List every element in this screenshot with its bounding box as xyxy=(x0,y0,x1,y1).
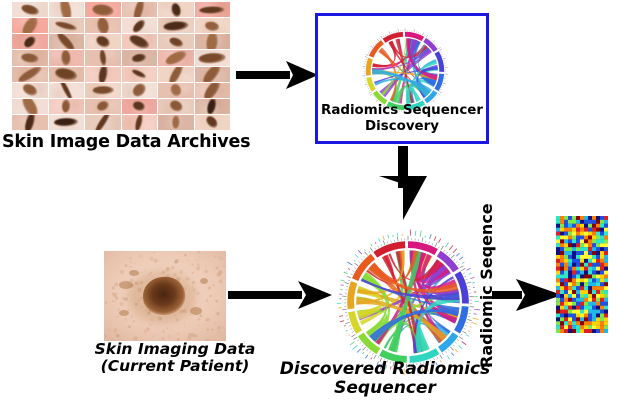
heatmap-cell xyxy=(588,314,592,318)
heatmap-cell xyxy=(556,243,560,247)
heatmap-cell xyxy=(576,286,580,290)
heatmap-cell xyxy=(568,251,572,255)
heatmap-cell xyxy=(568,224,572,228)
heatmap-cell xyxy=(580,275,584,279)
heatmap-cell xyxy=(568,314,572,318)
heatmap-cell xyxy=(560,255,564,259)
heatmap-cell xyxy=(560,247,564,251)
heatmap-cell xyxy=(560,298,564,302)
heatmap-cell xyxy=(576,239,580,243)
heatmap-cell xyxy=(596,275,600,279)
heatmap-cell xyxy=(600,220,604,224)
heatmap-cell xyxy=(592,247,596,251)
heatmap-cell xyxy=(588,306,592,310)
heatmap-cell xyxy=(576,321,580,325)
heatmap-cell xyxy=(596,329,600,333)
heatmap-cell xyxy=(564,306,568,310)
heatmap-cell xyxy=(556,255,560,259)
heatmap-cell xyxy=(600,314,604,318)
heatmap-cell xyxy=(556,302,560,306)
skin-image-thumbnail xyxy=(195,18,231,33)
heatmap-cell xyxy=(580,220,584,224)
heatmap-cell xyxy=(580,302,584,306)
heatmap-cell xyxy=(600,243,604,247)
heatmap-cell xyxy=(556,236,560,240)
heatmap-cell xyxy=(596,236,600,240)
heatmap-cell xyxy=(572,278,576,282)
heatmap-cell xyxy=(604,232,608,236)
heatmap-cell xyxy=(580,259,584,263)
heatmap-cell xyxy=(572,321,576,325)
heatmap-cell xyxy=(592,220,596,224)
heatmap-cell xyxy=(576,216,580,220)
heatmap-cell xyxy=(580,247,584,251)
arrow-sequencer-to-output xyxy=(492,277,562,313)
heatmap-cell xyxy=(600,302,604,306)
heatmap-cell xyxy=(568,259,572,263)
heatmap-cell xyxy=(576,220,580,224)
heatmap-cell xyxy=(560,317,564,321)
heatmap-cell xyxy=(592,271,596,275)
heatmap-cell xyxy=(572,329,576,333)
heatmap-cell xyxy=(604,317,608,321)
heatmap-cell xyxy=(600,329,604,333)
heatmap-cell xyxy=(584,267,588,271)
skin-image-thumbnail xyxy=(85,34,121,49)
heatmap-cell xyxy=(592,275,596,279)
heatmap-cell xyxy=(572,251,576,255)
heatmap-cell xyxy=(588,255,592,259)
skin-image-thumbnail xyxy=(49,2,85,17)
heatmap-cell xyxy=(596,216,600,220)
heatmap-cell xyxy=(560,275,564,279)
heatmap-cell xyxy=(592,290,596,294)
heatmap-cell xyxy=(564,278,568,282)
heatmap-cell xyxy=(560,325,564,329)
heatmap-cell xyxy=(580,239,584,243)
heatmap-cell xyxy=(568,294,572,298)
heatmap-cell xyxy=(596,247,600,251)
radiomics-sequencer-discovery-box[interactable]: Radiomics Sequencer Discovery xyxy=(315,13,489,144)
heatmap-cell xyxy=(584,232,588,236)
heatmap-cell xyxy=(604,310,608,314)
heatmap-cell xyxy=(584,286,588,290)
figure-canvas: Skin Image Data Archives Radiomics Seque… xyxy=(0,0,640,404)
heatmap-cell xyxy=(604,263,608,267)
heatmap-cell xyxy=(576,224,580,228)
heatmap-cell xyxy=(596,220,600,224)
heatmap-cell xyxy=(580,251,584,255)
skin-image-thumbnail xyxy=(158,18,194,33)
heatmap-cell xyxy=(592,228,596,232)
heatmap-cell xyxy=(576,282,580,286)
heatmap-cell xyxy=(600,294,604,298)
skin-image-thumbnail xyxy=(12,67,48,82)
heatmap-cell xyxy=(572,239,576,243)
heatmap-cell xyxy=(572,282,576,286)
heatmap-cell xyxy=(560,290,564,294)
skin-image-thumbnail xyxy=(85,115,121,130)
skin-image-thumbnail xyxy=(195,67,231,82)
heatmap-cell xyxy=(592,278,596,282)
heatmap-cell xyxy=(584,259,588,263)
heatmap-cell xyxy=(564,239,568,243)
heatmap-cell xyxy=(580,317,584,321)
skin-image-thumbnail xyxy=(85,83,121,98)
heatmap-cell xyxy=(580,306,584,310)
heatmap-cell xyxy=(580,255,584,259)
heatmap-cell xyxy=(596,224,600,228)
heatmap-cell xyxy=(588,236,592,240)
heatmap-cell xyxy=(556,247,560,251)
heatmap-cell xyxy=(564,310,568,314)
heatmap-cell xyxy=(576,278,580,282)
heatmap-cell xyxy=(596,302,600,306)
heatmap-cell xyxy=(584,255,588,259)
heatmap-cell xyxy=(596,228,600,232)
heatmap-cell xyxy=(572,310,576,314)
heatmap-cell xyxy=(592,310,596,314)
heatmap-cell xyxy=(588,325,592,329)
heatmap-cell xyxy=(564,290,568,294)
heatmap-cell xyxy=(560,251,564,255)
skin-image-thumbnail xyxy=(85,18,121,33)
heatmap-cell xyxy=(584,298,588,302)
heatmap-cell xyxy=(588,247,592,251)
heatmap-cell xyxy=(604,247,608,251)
heatmap-cell xyxy=(572,325,576,329)
arrow-archive-to-discovery xyxy=(236,58,318,92)
heatmap-cell xyxy=(580,228,584,232)
skin-image-thumbnail xyxy=(195,34,231,49)
heatmap-cell xyxy=(584,271,588,275)
heatmap-cell xyxy=(556,298,560,302)
heatmap-cell xyxy=(584,228,588,232)
heatmap-cell xyxy=(592,259,596,263)
heatmap-cell xyxy=(596,321,600,325)
heatmap-cell xyxy=(584,251,588,255)
heatmap-cell xyxy=(596,239,600,243)
lesion-core xyxy=(143,277,185,315)
skin-image-thumbnail xyxy=(122,67,158,82)
skin-image-thumbnail xyxy=(195,2,231,17)
heatmap-cell xyxy=(576,243,580,247)
heatmap-cell xyxy=(580,314,584,318)
heatmap-cell xyxy=(588,286,592,290)
heatmap-cell xyxy=(596,286,600,290)
heatmap-cell xyxy=(580,286,584,290)
skin-image-thumbnail xyxy=(158,99,194,114)
heatmap-cell xyxy=(584,243,588,247)
heatmap-cell xyxy=(600,306,604,310)
skin-image-thumbnail xyxy=(49,67,85,82)
heatmap-cell xyxy=(564,255,568,259)
heatmap-cell xyxy=(588,239,592,243)
heatmap-cell xyxy=(580,294,584,298)
skin-image-archive-grid xyxy=(12,2,230,130)
sequence-heatmap-svg xyxy=(556,216,608,333)
heatmap-cell xyxy=(584,306,588,310)
heatmap-cell xyxy=(588,298,592,302)
heatmap-cell xyxy=(576,290,580,294)
heatmap-cell xyxy=(592,236,596,240)
heatmap-cell xyxy=(584,220,588,224)
heatmap-cell xyxy=(556,267,560,271)
skin-image-thumbnail xyxy=(49,99,85,114)
heatmap-cell xyxy=(556,263,560,267)
skin-image-thumbnail xyxy=(12,34,48,49)
heatmap-cell xyxy=(560,278,564,282)
heatmap-cell xyxy=(576,259,580,263)
heatmap-cell xyxy=(600,271,604,275)
heatmap-cell xyxy=(568,282,572,286)
heatmap-cell xyxy=(596,267,600,271)
heatmap-cell xyxy=(564,251,568,255)
arrow-patient-to-sequencer xyxy=(228,278,332,312)
skin-image-thumbnail xyxy=(49,83,85,98)
archive-caption: Skin Image Data Archives xyxy=(0,133,264,153)
heatmap-cell xyxy=(556,306,560,310)
heatmap-cell xyxy=(568,325,572,329)
heatmap-cell xyxy=(556,278,560,282)
heatmap-cell xyxy=(556,310,560,314)
heatmap-cell xyxy=(568,317,572,321)
heatmap-cell xyxy=(556,224,560,228)
heatmap-cell xyxy=(600,325,604,329)
skin-image-thumbnail xyxy=(195,83,231,98)
heatmap-cell xyxy=(560,282,564,286)
heatmap-cell xyxy=(580,271,584,275)
heatmap-cell xyxy=(580,278,584,282)
heatmap-cell xyxy=(596,306,600,310)
heatmap-cell xyxy=(584,239,588,243)
heatmap-cell xyxy=(596,298,600,302)
heatmap-cell xyxy=(592,263,596,267)
heatmap-cell xyxy=(596,314,600,318)
skin-image-thumbnail xyxy=(85,67,121,82)
heatmap-cell xyxy=(560,271,564,275)
heatmap-cell xyxy=(600,228,604,232)
heatmap-cell xyxy=(560,236,564,240)
heatmap-cell xyxy=(556,275,560,279)
heatmap-cell xyxy=(572,314,576,318)
patient-lesion-illustration xyxy=(104,251,226,341)
heatmap-cell xyxy=(556,220,560,224)
heatmap-cell xyxy=(568,321,572,325)
heatmap-cell xyxy=(592,251,596,255)
heatmap-cell xyxy=(600,251,604,255)
heatmap-cell xyxy=(584,224,588,228)
heatmap-cell xyxy=(560,329,564,333)
heatmap-cell xyxy=(588,228,592,232)
patient-caption: Skin Imaging Data (Current Patient) xyxy=(62,341,288,376)
heatmap-cell xyxy=(580,263,584,267)
skin-image-thumbnail xyxy=(12,83,48,98)
heatmap-cell xyxy=(556,251,560,255)
heatmap-cell xyxy=(568,255,572,259)
heatmap-cell xyxy=(564,243,568,247)
heatmap-cell xyxy=(568,220,572,224)
heatmap-cell xyxy=(560,232,564,236)
heatmap-cell xyxy=(556,325,560,329)
heatmap-cell xyxy=(564,286,568,290)
skin-image-thumbnail xyxy=(122,115,158,130)
heatmap-cell xyxy=(604,216,608,220)
heatmap-cell xyxy=(600,290,604,294)
heatmap-cell xyxy=(576,271,580,275)
heatmap-cell xyxy=(572,267,576,271)
heatmap-cell xyxy=(556,239,560,243)
heatmap-cell xyxy=(604,321,608,325)
skin-image-thumbnail xyxy=(85,2,121,17)
skin-image-thumbnail xyxy=(12,115,48,130)
skin-image-thumbnail xyxy=(158,115,194,130)
heatmap-cell xyxy=(576,302,580,306)
heatmap-cell xyxy=(568,290,572,294)
discovery-box-label: Radiomics Sequencer Discovery xyxy=(318,103,486,134)
heatmap-cell xyxy=(572,247,576,251)
heatmap-cell xyxy=(596,259,600,263)
heatmap-cell xyxy=(584,216,588,220)
heatmap-cell xyxy=(592,294,596,298)
heatmap-cell xyxy=(572,306,576,310)
heatmap-cell xyxy=(564,317,568,321)
heatmap-cell xyxy=(596,282,600,286)
heatmap-cell xyxy=(580,329,584,333)
heatmap-cell xyxy=(592,243,596,247)
skin-image-thumbnail xyxy=(122,18,158,33)
heatmap-cell xyxy=(588,220,592,224)
heatmap-cell xyxy=(580,282,584,286)
heatmap-cell xyxy=(560,314,564,318)
heatmap-cell xyxy=(584,302,588,306)
heatmap-cell xyxy=(600,232,604,236)
lesion-region xyxy=(92,86,113,94)
heatmap-cell xyxy=(560,321,564,325)
heatmap-cell xyxy=(584,263,588,267)
heatmap-cell xyxy=(568,271,572,275)
heatmap-cell xyxy=(568,306,572,310)
heatmap-cell xyxy=(588,224,592,228)
heatmap-cell xyxy=(556,232,560,236)
heatmap-cell xyxy=(572,286,576,290)
heatmap-cell xyxy=(604,271,608,275)
heatmap-cell xyxy=(568,329,572,333)
heatmap-cell xyxy=(596,294,600,298)
heatmap-cell xyxy=(580,232,584,236)
heatmap-cell xyxy=(604,325,608,329)
heatmap-cell xyxy=(600,267,604,271)
skin-image-thumbnail xyxy=(49,34,85,49)
heatmap-cell xyxy=(600,317,604,321)
heatmap-cell xyxy=(604,255,608,259)
skin-image-thumbnail xyxy=(158,83,194,98)
heatmap-cell xyxy=(556,317,560,321)
heatmap-cell xyxy=(568,286,572,290)
heatmap-cell xyxy=(592,286,596,290)
heatmap-cell xyxy=(576,247,580,251)
chord-diagram-svg xyxy=(332,226,484,378)
heatmap-cell xyxy=(576,275,580,279)
heatmap-cell xyxy=(572,224,576,228)
heatmap-cell xyxy=(580,236,584,240)
heatmap-cell xyxy=(604,275,608,279)
skin-image-thumbnail xyxy=(158,67,194,82)
radiomic-sequence-matrix xyxy=(556,216,608,333)
heatmap-cell xyxy=(604,282,608,286)
heatmap-cell xyxy=(572,271,576,275)
heatmap-cell xyxy=(556,314,560,318)
heatmap-cell xyxy=(556,329,560,333)
heatmap-cell xyxy=(572,243,576,247)
skin-image-thumbnail xyxy=(122,2,158,17)
heatmap-cell xyxy=(572,298,576,302)
heatmap-cell xyxy=(560,228,564,232)
heatmap-cell xyxy=(576,236,580,240)
heatmap-cell xyxy=(572,317,576,321)
heatmap-cell xyxy=(564,247,568,251)
heatmap-cell xyxy=(560,216,564,220)
heatmap-cell xyxy=(588,263,592,267)
heatmap-cell xyxy=(560,306,564,310)
heatmap-cell xyxy=(604,298,608,302)
heatmap-cell xyxy=(560,302,564,306)
heatmap-cell xyxy=(588,259,592,263)
heatmap-cell xyxy=(564,267,568,271)
heatmap-cell xyxy=(596,271,600,275)
heatmap-cell xyxy=(568,232,572,236)
heatmap-cell xyxy=(572,302,576,306)
heatmap-cell xyxy=(588,290,592,294)
heatmap-cell xyxy=(592,298,596,302)
heatmap-cell xyxy=(564,263,568,267)
heatmap-cell xyxy=(592,314,596,318)
heatmap-cell xyxy=(580,224,584,228)
heatmap-cell xyxy=(556,321,560,325)
skin-image-thumbnail xyxy=(195,50,231,65)
heatmap-cell xyxy=(568,228,572,232)
heatmap-cell xyxy=(564,259,568,263)
skin-image-thumbnail xyxy=(195,115,231,130)
heatmap-cell xyxy=(592,224,596,228)
heatmap-cell xyxy=(600,236,604,240)
heatmap-cell xyxy=(564,275,568,279)
heatmap-cell xyxy=(588,243,592,247)
heatmap-cell xyxy=(576,314,580,318)
heatmap-cell xyxy=(604,224,608,228)
heatmap-cell xyxy=(588,232,592,236)
heatmap-cell xyxy=(600,278,604,282)
heatmap-cell xyxy=(600,224,604,228)
heatmap-cell xyxy=(600,247,604,251)
heatmap-cell xyxy=(564,216,568,220)
heatmap-cell xyxy=(556,216,560,220)
heatmap-cell xyxy=(596,278,600,282)
heatmap-cell xyxy=(576,310,580,314)
heatmap-cell xyxy=(560,243,564,247)
skin-image-thumbnail xyxy=(158,50,194,65)
heatmap-cell xyxy=(564,321,568,325)
heatmap-cell xyxy=(604,243,608,247)
heatmap-cell xyxy=(592,321,596,325)
heatmap-cell xyxy=(600,255,604,259)
heatmap-cell xyxy=(600,259,604,263)
circos-diagram-small xyxy=(356,22,454,112)
heatmap-cell xyxy=(556,282,560,286)
heatmap-cell xyxy=(588,294,592,298)
heatmap-cell xyxy=(576,263,580,267)
heatmap-cell xyxy=(568,298,572,302)
